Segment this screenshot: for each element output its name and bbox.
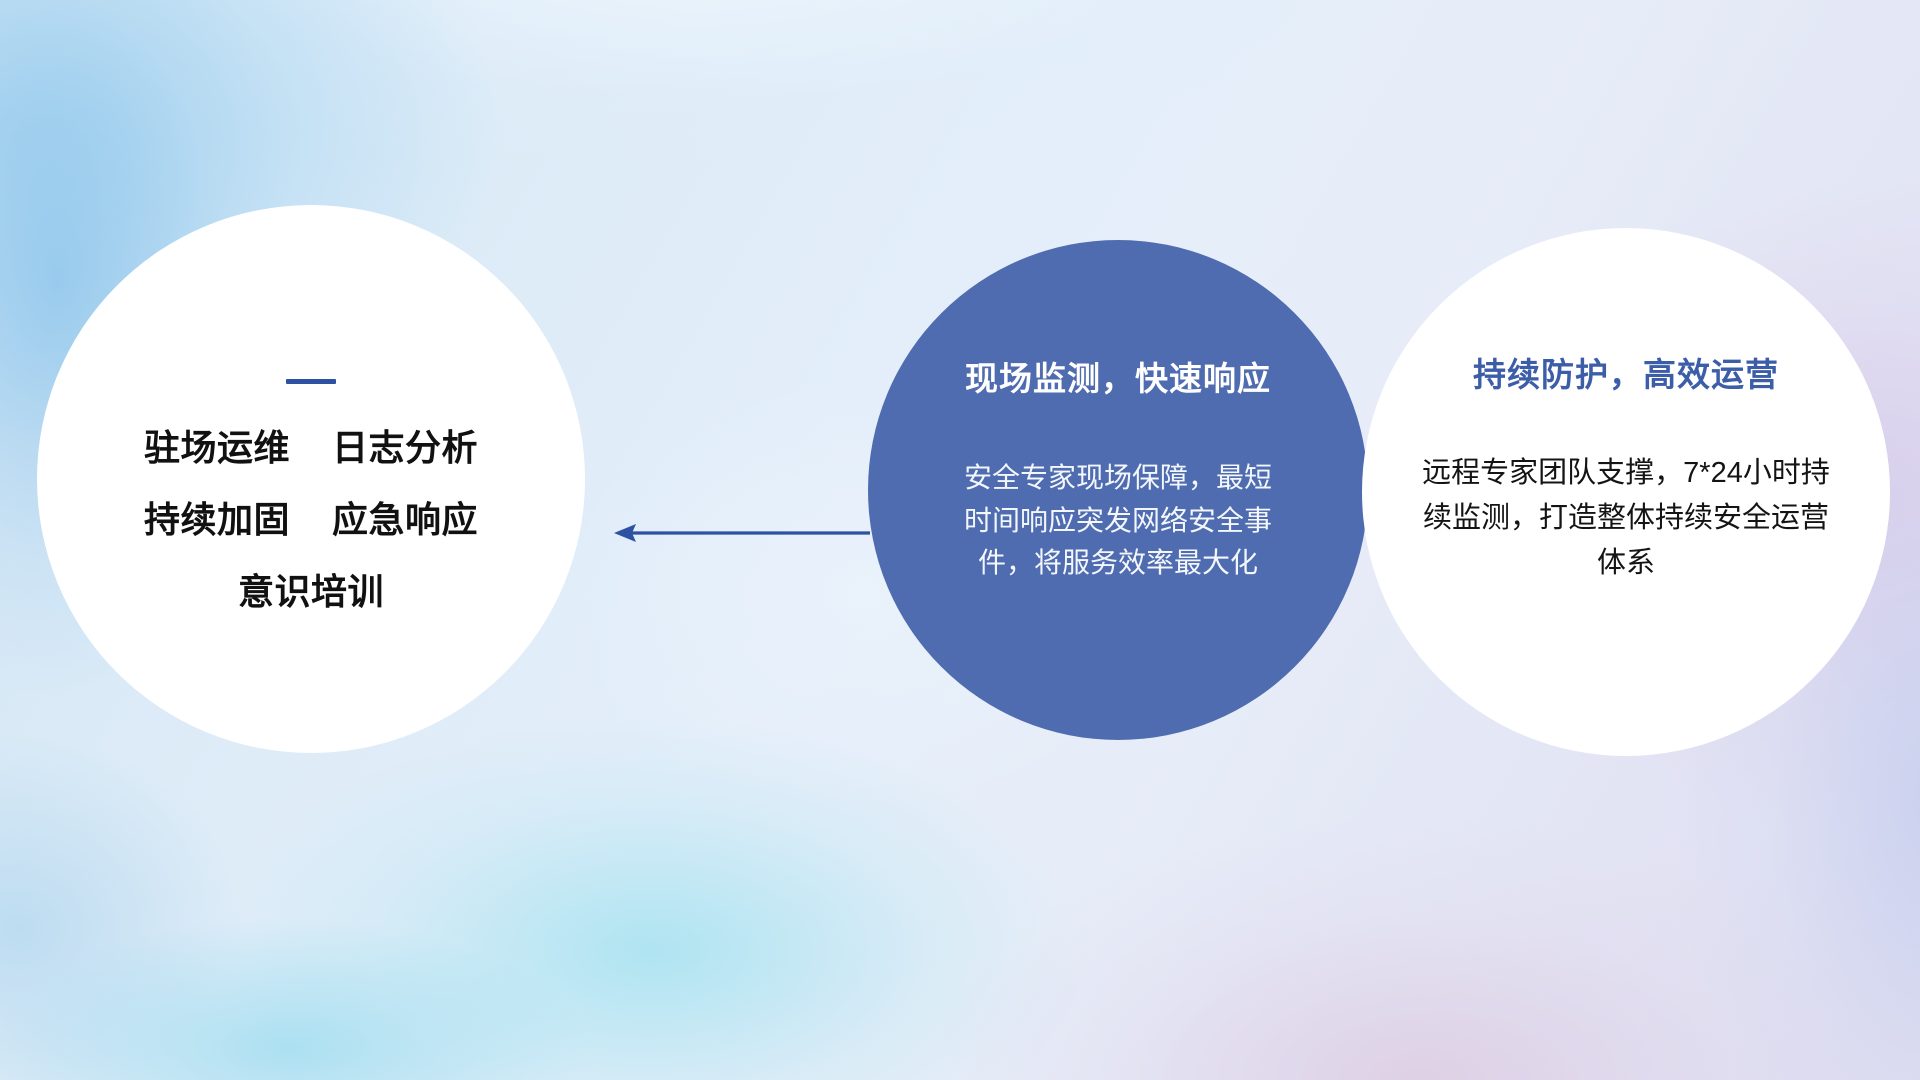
capabilities-circle: 驻场运维 日志分析 持续加固 应急响应 意识培训 [37, 205, 585, 753]
flow-arrow-icon [608, 518, 870, 548]
list-item: 驻场运维 日志分析 [144, 430, 478, 466]
continuous-protection-circle: 持续防护，高效运营 远程专家团队支撑，7*24小时持续监测，打造整体持续安全运营… [1362, 228, 1890, 756]
onsite-monitoring-body: 安全专家现场保障，最短时间响应突发网络安全事件，将服务效率最大化 [953, 457, 1283, 585]
capability-list: 驻场运维 日志分析 持续加固 应急响应 意识培训 [144, 430, 478, 610]
slide-canvas: 驻场运维 日志分析 持续加固 应急响应 意识培训 现场监测，快速响应 安全专家现… [0, 0, 1920, 1080]
continuous-protection-title: 持续防护，高效运营 [1473, 358, 1779, 391]
title-divider-icon [286, 379, 336, 384]
onsite-monitoring-circle: 现场监测，快速响应 安全专家现场保障，最短时间响应突发网络安全事件，将服务效率最… [868, 240, 1368, 740]
list-item: 持续加固 应急响应 [144, 502, 478, 538]
continuous-protection-body: 远程专家团队支撑，7*24小时持续监测，打造整体持续安全运营体系 [1416, 451, 1836, 586]
onsite-monitoring-title: 现场监测，快速响应 [965, 362, 1271, 395]
list-item: 意识培训 [144, 574, 478, 610]
